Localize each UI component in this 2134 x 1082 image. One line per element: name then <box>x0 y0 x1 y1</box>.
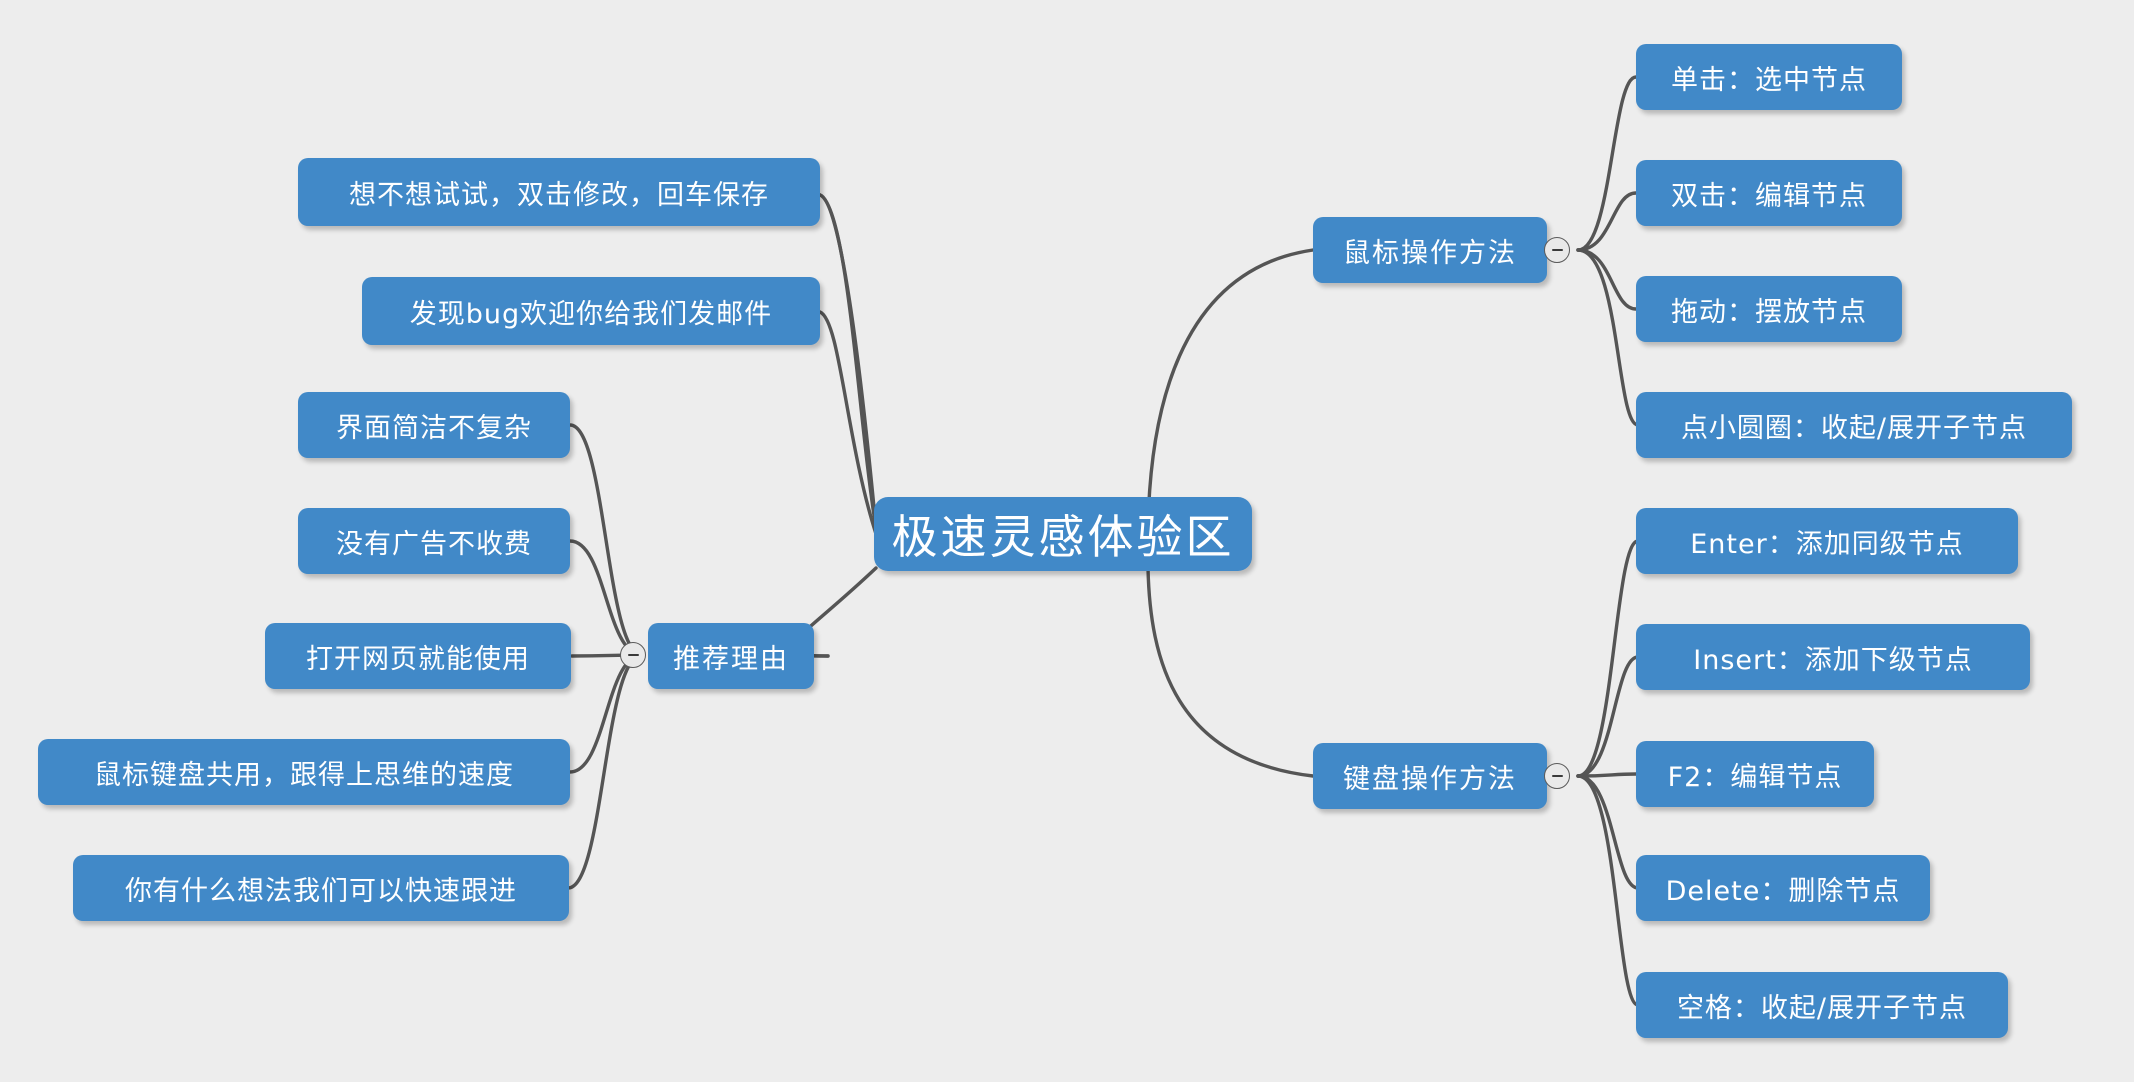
leaf-node-keyboard-4-label: 空格：收起/展开子节点 <box>1677 986 1967 1025</box>
collapse-toggle-mouse[interactable] <box>1544 237 1570 263</box>
mindmap-canvas[interactable]: 极速灵感体验区 鼠标操作方法 单击：选中节点 双击：编辑节点 拖动：摆放节点 点… <box>0 0 2134 1082</box>
edge-reason-c3 <box>570 655 642 772</box>
edge-mouse-c0 <box>1578 77 1636 250</box>
leaf-node-mouse-2[interactable]: 拖动：摆放节点 <box>1636 276 1902 342</box>
edge-root-keyboard <box>1148 568 1313 776</box>
leaf-node-keyboard-1[interactable]: Insert：添加下级节点 <box>1636 624 2030 690</box>
leaf-node-keyboard-1-label: Insert：添加下级节点 <box>1693 638 1972 677</box>
edge-kb-c2 <box>1578 774 1636 776</box>
edge-mouse-c2 <box>1578 250 1636 309</box>
leaf-node-reason-4[interactable]: 你有什么想法我们可以快速跟进 <box>73 855 569 921</box>
leaf-node-keyboard-3[interactable]: Delete：删除节点 <box>1636 855 1930 921</box>
branch-node-keyboard[interactable]: 键盘操作方法 <box>1313 743 1547 809</box>
leaf-node-keyboard-2[interactable]: F2：编辑节点 <box>1636 741 1874 807</box>
leaf-node-mouse-3-label: 点小圆圈：收起/展开子节点 <box>1681 406 2027 445</box>
edge-reason-c0 <box>570 425 642 655</box>
edge-try-seg <box>818 194 876 528</box>
leaf-node-mouse-0[interactable]: 单击：选中节点 <box>1636 44 1902 110</box>
leaf-node-reason-0[interactable]: 界面简洁不复杂 <box>298 392 570 458</box>
leaf-node-reason-3-label: 鼠标键盘共用，跟得上思维的速度 <box>94 753 514 792</box>
leaf-node-keyboard-0-label: Enter：添加同级节点 <box>1690 522 1963 561</box>
root-node[interactable]: 极速灵感体验区 <box>874 497 1252 571</box>
leaf-node-bug[interactable]: 发现bug欢迎你给我们发邮件 <box>362 277 820 345</box>
leaf-node-bug-label: 发现bug欢迎你给我们发邮件 <box>410 292 772 331</box>
leaf-node-reason-1[interactable]: 没有广告不收费 <box>298 508 570 574</box>
branch-node-keyboard-label: 键盘操作方法 <box>1343 757 1517 796</box>
leaf-node-keyboard-3-label: Delete：删除节点 <box>1666 869 1901 908</box>
leaf-node-mouse-2-label: 拖动：摆放节点 <box>1671 290 1867 329</box>
leaf-node-reason-4-label: 你有什么想法我们可以快速跟进 <box>125 869 517 908</box>
edge-kb-c4 <box>1578 776 1638 1005</box>
branch-node-reasons-label: 推荐理由 <box>673 637 789 676</box>
leaf-node-mouse-3[interactable]: 点小圆圈：收起/展开子节点 <box>1636 392 2072 458</box>
leaf-node-mouse-1[interactable]: 双击：编辑节点 <box>1636 160 1902 226</box>
edge-reason-c4 <box>568 655 642 888</box>
branch-node-reasons[interactable]: 推荐理由 <box>648 623 814 689</box>
leaf-node-reason-3[interactable]: 鼠标键盘共用，跟得上思维的速度 <box>38 739 570 805</box>
edge-mouse-c1 <box>1578 193 1636 250</box>
edge-root-mouse <box>1148 250 1313 528</box>
leaf-node-try-label: 想不想试试，双击修改，回车保存 <box>349 173 769 212</box>
branch-node-mouse-label: 鼠标操作方法 <box>1343 231 1517 270</box>
branch-node-mouse[interactable]: 鼠标操作方法 <box>1313 217 1547 283</box>
edge-root-bug <box>820 312 876 534</box>
edge-reason-c1 <box>570 541 642 655</box>
leaf-node-reason-0-label: 界面简洁不复杂 <box>336 406 532 445</box>
edge-mouse-c3 <box>1578 250 1638 425</box>
root-node-label: 极速灵感体验区 <box>892 501 1235 567</box>
leaf-node-keyboard-4[interactable]: 空格：收起/展开子节点 <box>1636 972 2008 1038</box>
leaf-node-keyboard-0[interactable]: Enter：添加同级节点 <box>1636 508 2018 574</box>
edge-kb-c1 <box>1578 657 1638 776</box>
leaf-node-keyboard-2-label: F2：编辑节点 <box>1668 755 1843 794</box>
minus-icon <box>1552 249 1563 252</box>
collapse-toggle-keyboard[interactable] <box>1544 763 1570 789</box>
edge-kb-c0 <box>1578 541 1638 776</box>
edge-kb-c3 <box>1578 776 1638 888</box>
leaf-node-reason-2-label: 打开网页就能使用 <box>306 637 530 676</box>
edge-root-try <box>820 195 876 528</box>
minus-icon <box>628 654 639 657</box>
collapse-toggle-reasons[interactable] <box>620 642 646 668</box>
leaf-node-try[interactable]: 想不想试试，双击修改，回车保存 <box>298 158 820 226</box>
leaf-node-reason-2[interactable]: 打开网页就能使用 <box>265 623 571 689</box>
minus-icon <box>1552 775 1563 778</box>
leaf-node-mouse-0-label: 单击：选中节点 <box>1671 58 1867 97</box>
leaf-node-mouse-1-label: 双击：编辑节点 <box>1671 174 1867 213</box>
leaf-node-reason-1-label: 没有广告不收费 <box>336 522 532 561</box>
